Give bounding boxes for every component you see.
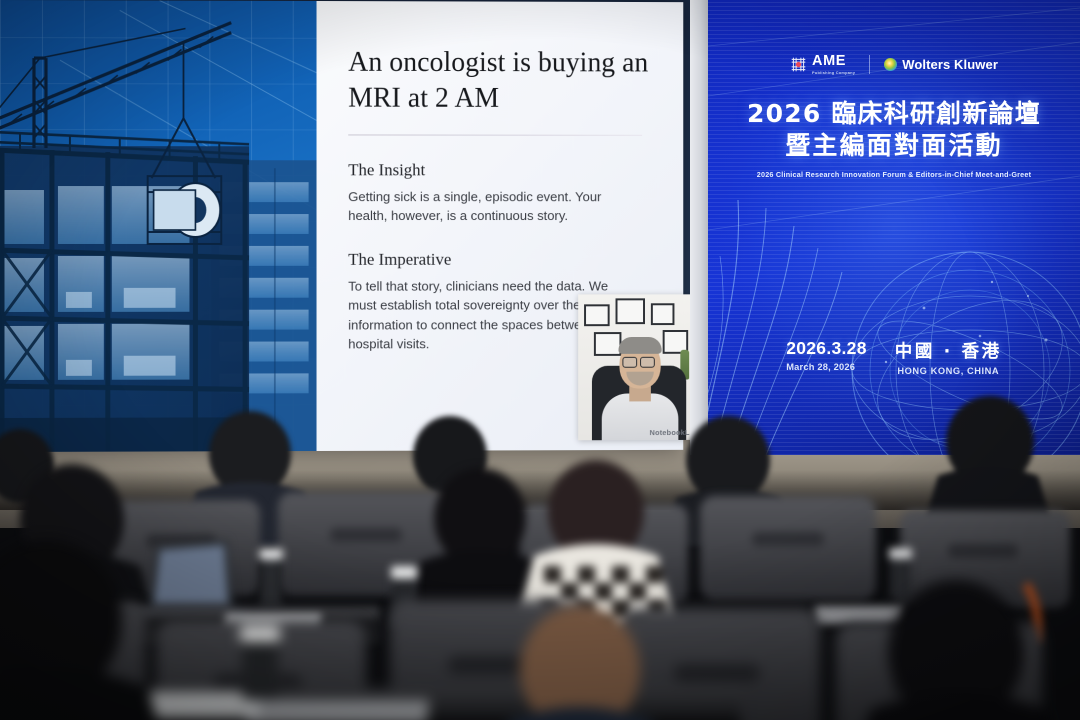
event-location-cn: 中國 · 香港 — [895, 338, 1002, 363]
slide-title: An oncologist is buying an MRI at 2 AM — [348, 45, 650, 118]
event-subtitle-en: 2026 Clinical Research Innovation Forum … — [708, 170, 1080, 179]
event-date-en: March 28, 2026 — [786, 362, 867, 372]
event-date-block: 2026.3.28 March 28, 2026 — [786, 338, 867, 372]
wall-frame-icon — [616, 298, 645, 324]
wall-frame-icon — [584, 304, 610, 326]
wolters-kluwer-name: Wolters Kluwer — [902, 57, 998, 72]
section-heading: The Imperative — [348, 250, 650, 270]
wolters-kluwer-logo: Wolters Kluwer — [884, 57, 998, 72]
event-date-cn: 2026.3.28 — [786, 338, 867, 359]
slide-section-insight: The Insight Getting sick is a single, ep… — [348, 160, 650, 226]
led-logo-row: AME Publishing Company Wolters Kluwer — [708, 54, 1080, 74]
section-body: Getting sick is a single, episodic event… — [348, 187, 636, 226]
wall-frame-icon — [594, 332, 622, 356]
event-footer: 2026.3.28 March 28, 2026 中國 · 香港 HONG KO… — [708, 338, 1080, 376]
eyeglasses-icon — [622, 357, 637, 368]
wolters-kluwer-orb-icon — [884, 58, 897, 71]
event-location-en: HONG KONG, CHINA — [895, 366, 1002, 376]
ame-mark-icon — [790, 56, 807, 73]
audience-foreground — [0, 370, 1080, 720]
ame-logo-name: AME — [812, 54, 855, 69]
screenshot-root: An oncologist is buying an MRI at 2 AM T… — [0, 0, 1080, 720]
event-title-line1: 2026 臨床科研創新論壇 — [708, 98, 1080, 130]
title-divider — [348, 134, 642, 135]
logo-separator — [869, 55, 870, 74]
speaker-hair — [618, 337, 661, 354]
ame-logo-subtitle: Publishing Company — [812, 71, 855, 75]
event-title-line2: 暨主編面對面活動 — [708, 130, 1080, 162]
wall-frame-icon — [651, 303, 675, 325]
eyeglasses-icon — [640, 357, 655, 368]
section-heading: The Insight — [348, 160, 650, 180]
event-location-block: 中國 · 香港 HONG KONG, CHINA — [895, 338, 1002, 376]
event-title: 2026 臨床科研創新論壇 暨主編面對面活動 — [708, 98, 1080, 161]
ame-logo: AME Publishing Company — [790, 54, 855, 74]
